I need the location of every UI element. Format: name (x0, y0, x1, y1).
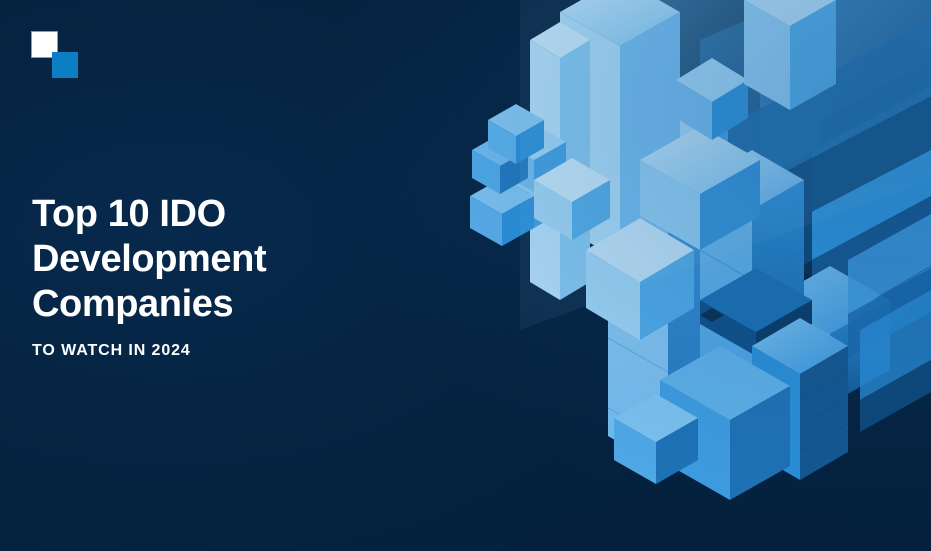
page-subtitle: TO WATCH IN 2024 (32, 341, 392, 361)
logo-blue-square (52, 52, 78, 78)
two-square-logo[interactable] (32, 32, 78, 78)
headline-line-2: Development (32, 237, 392, 282)
headline-line-1: Top 10 IDO (32, 192, 392, 237)
copy-block: Top 10 IDO Development Companies TO WATC… (32, 192, 392, 361)
page-title: Top 10 IDO Development Companies (32, 192, 392, 327)
headline-line-3: Companies (32, 282, 392, 327)
banner-root: Top 10 IDO Development Companies TO WATC… (0, 0, 931, 551)
